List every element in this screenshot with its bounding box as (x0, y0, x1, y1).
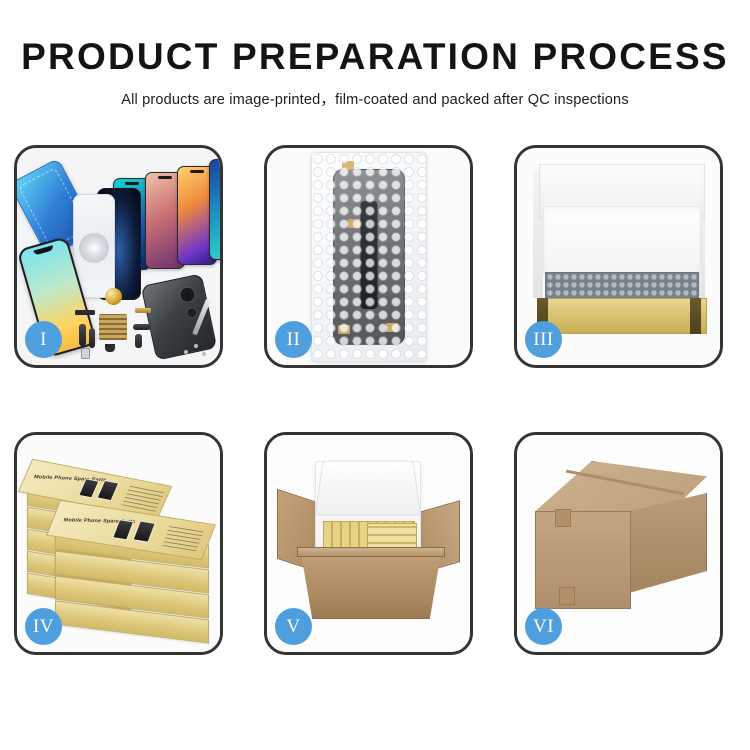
lid-window-f2 (132, 520, 156, 542)
sim-tray-icon (81, 348, 90, 359)
infographic-page: PRODUCT PREPARATION PROCESS All products… (0, 0, 750, 750)
carton-tape-bottom (559, 587, 575, 605)
process-step-4[interactable]: Mobile Phone Spare Parts Mobile Phone Sp… (14, 432, 223, 655)
tape-piece-3 (338, 325, 350, 334)
screen-flex-cable (360, 201, 377, 309)
kraft-box-end-right (690, 298, 701, 334)
flex-cable-3 (133, 324, 151, 330)
carton-front-wall (301, 553, 441, 619)
phone-backplate-icon (141, 273, 217, 360)
flex-cable-2 (89, 328, 95, 348)
kraft-box-front (537, 298, 707, 334)
step-badge-5: V (275, 608, 312, 645)
process-step-6[interactable]: VI (514, 432, 723, 655)
lid-spec-text-rear (122, 485, 165, 512)
step-badge-6: VI (525, 608, 562, 645)
tape-piece-1 (342, 161, 354, 170)
step-badge-4: IV (25, 608, 62, 645)
speaker-module-icon (105, 344, 115, 352)
screw-tray-icon (99, 314, 127, 340)
process-step-2[interactable]: II (264, 145, 473, 368)
process-step-5[interactable]: V (264, 432, 473, 655)
carton-rim (297, 547, 445, 557)
phone-device-4 (209, 159, 221, 260)
foam-box-lid (315, 461, 422, 516)
carton-tape-top (555, 509, 571, 527)
header: PRODUCT PREPARATION PROCESS All products… (0, 0, 750, 109)
page-title: PRODUCT PREPARATION PROCESS (0, 38, 750, 77)
step-badge-2: II (275, 321, 312, 358)
tape-piece-4 (386, 323, 398, 332)
vibration-motor-icon (105, 288, 122, 305)
tape-piece-2 (348, 219, 360, 228)
step-badge-3: III (525, 321, 562, 358)
process-step-3[interactable]: III (514, 145, 723, 368)
carton-front-face (535, 511, 631, 609)
process-step-grid: I II (14, 145, 736, 655)
white-foam-sheet (543, 206, 701, 274)
lid-spec-text-front (162, 525, 204, 551)
bubble-wrap-bag-icon (311, 152, 427, 362)
component-chip-1 (75, 310, 95, 315)
step-badge-1: I (25, 321, 62, 358)
bubble-wrap-layer (545, 272, 699, 299)
process-step-1[interactable]: I (14, 145, 223, 368)
flex-cable-1 (79, 324, 86, 346)
flex-cable-4 (135, 334, 142, 348)
component-chip-2 (135, 308, 151, 313)
page-subtitle: All products are image-printed，film-coat… (0, 88, 750, 109)
